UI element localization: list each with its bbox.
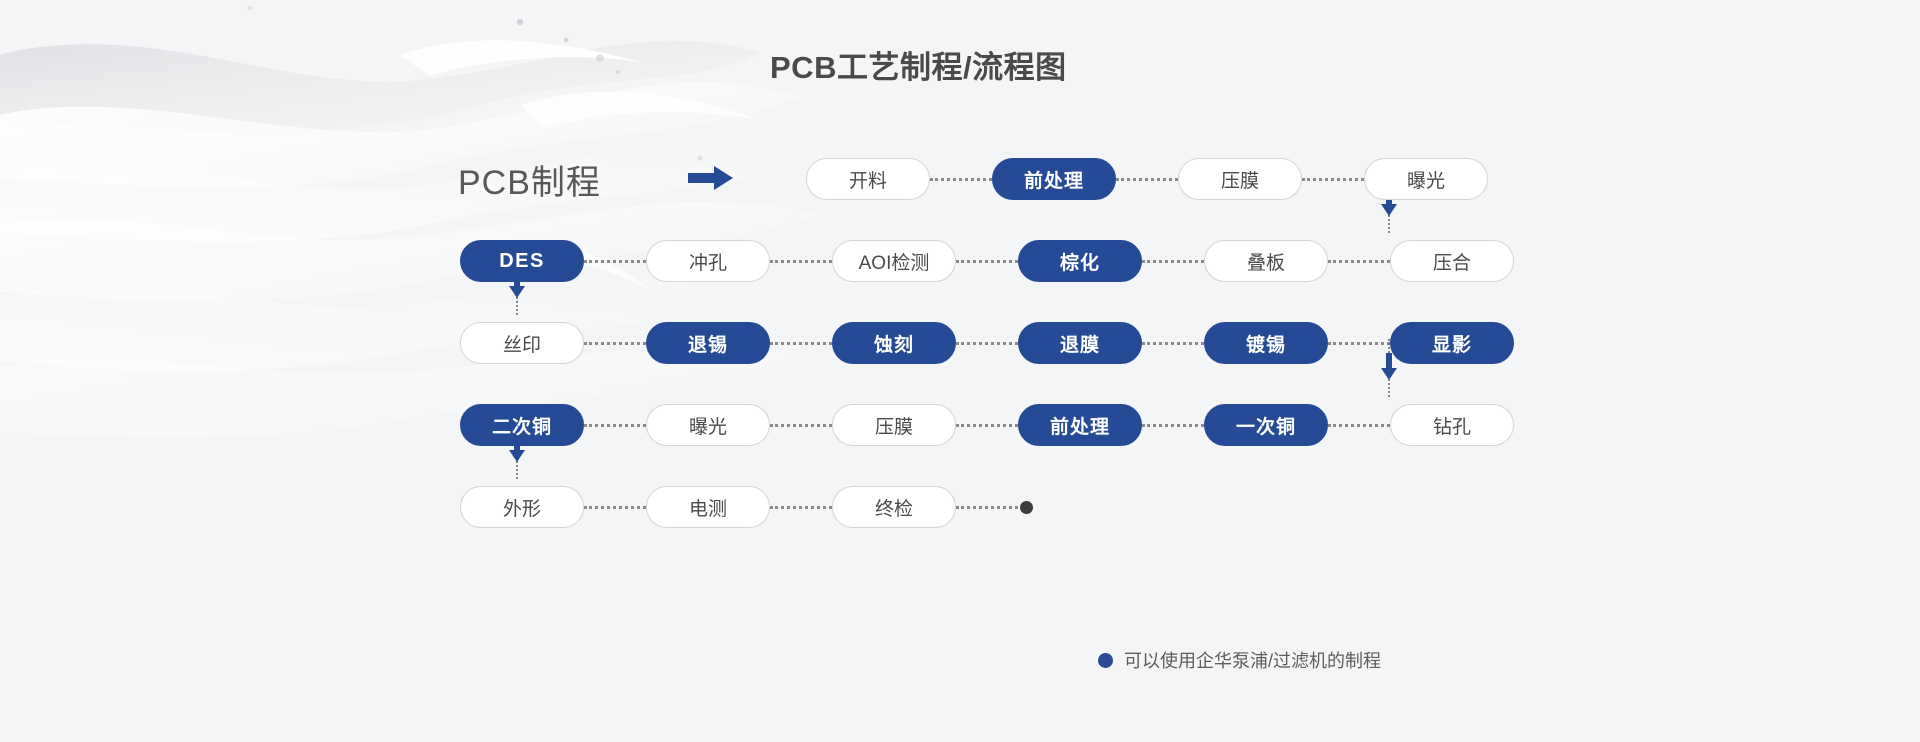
- connector-dotted-horizontal: [1328, 260, 1390, 263]
- connector-dotted-horizontal: [1302, 178, 1364, 181]
- process-node[interactable]: 终检: [832, 486, 956, 528]
- process-node[interactable]: 退膜: [1018, 322, 1142, 364]
- process-node[interactable]: 前处理: [992, 158, 1116, 200]
- process-node[interactable]: 丝印: [460, 322, 584, 364]
- connector-dotted-horizontal: [1142, 342, 1204, 345]
- connector-dotted-horizontal: [956, 506, 1018, 509]
- legend: 可以使用企华泵浦/过滤机的制程: [1098, 647, 1381, 673]
- connector-dotted-horizontal: [770, 424, 832, 427]
- process-node[interactable]: 二次铜: [460, 404, 584, 446]
- process-node[interactable]: 曝光: [646, 404, 770, 446]
- process-node[interactable]: 压膜: [1178, 158, 1302, 200]
- process-node[interactable]: 曝光: [1364, 158, 1488, 200]
- process-node[interactable]: 叠板: [1204, 240, 1328, 282]
- legend-text: 可以使用企华泵浦/过滤机的制程: [1124, 647, 1381, 673]
- connector-dotted-horizontal: [1142, 424, 1204, 427]
- process-node[interactable]: 钻孔: [1390, 404, 1514, 446]
- connector-dotted-horizontal: [1142, 260, 1204, 263]
- connector-dotted-horizontal: [956, 260, 1018, 263]
- row-2: DES冲孔AOI检测棕化叠板压合: [460, 240, 1514, 282]
- connector-dotted-horizontal: [1328, 424, 1390, 427]
- process-node[interactable]: AOI检测: [832, 240, 956, 282]
- row-1: 开料前处理压膜曝光: [806, 158, 1488, 200]
- process-node[interactable]: 一次铜: [1204, 404, 1328, 446]
- connector-dotted-horizontal: [584, 424, 646, 427]
- process-node[interactable]: 退锡: [646, 322, 770, 364]
- connector-dotted-horizontal: [930, 178, 992, 181]
- connector-dotted-horizontal: [770, 260, 832, 263]
- process-node[interactable]: 冲孔: [646, 240, 770, 282]
- process-node[interactable]: DES: [460, 240, 584, 282]
- flowchart-stage: PCB工艺制程/流程图 PCB制程 开料前处理压膜曝光DES冲孔AOI检测棕化叠…: [0, 0, 1920, 742]
- process-node[interactable]: 棕化: [1018, 240, 1142, 282]
- process-node[interactable]: 蚀刻: [832, 322, 956, 364]
- row-4: 二次铜曝光压膜前处理一次铜钻孔: [460, 404, 1514, 446]
- process-node[interactable]: 外形: [460, 486, 584, 528]
- process-node[interactable]: 压合: [1390, 240, 1514, 282]
- page-title: PCB工艺制程/流程图: [770, 42, 1067, 87]
- process-node[interactable]: 镀锡: [1204, 322, 1328, 364]
- process-node[interactable]: 显影: [1390, 322, 1514, 364]
- process-node[interactable]: 压膜: [832, 404, 956, 446]
- entry-label: PCB制程: [458, 155, 601, 204]
- process-node[interactable]: 开料: [806, 158, 930, 200]
- connector-dotted-horizontal: [1116, 178, 1178, 181]
- row-3: 丝印退锡蚀刻退膜镀锡显影: [460, 322, 1514, 364]
- terminal-dot-icon: [1020, 501, 1033, 514]
- connector-dotted-horizontal: [770, 342, 832, 345]
- connector-dotted-horizontal: [584, 342, 646, 345]
- connector-dotted-horizontal: [956, 342, 1018, 345]
- connector-dotted-horizontal: [584, 506, 646, 509]
- process-node[interactable]: 电测: [646, 486, 770, 528]
- connector-dotted-horizontal: [770, 506, 832, 509]
- row-5: 外形电测终检: [460, 486, 1033, 528]
- blue-dot-icon: [1098, 653, 1113, 668]
- arrow-right-icon: [688, 165, 734, 191]
- connector-dotted-horizontal: [956, 424, 1018, 427]
- connector-dotted-horizontal: [584, 260, 646, 263]
- process-node[interactable]: 前处理: [1018, 404, 1142, 446]
